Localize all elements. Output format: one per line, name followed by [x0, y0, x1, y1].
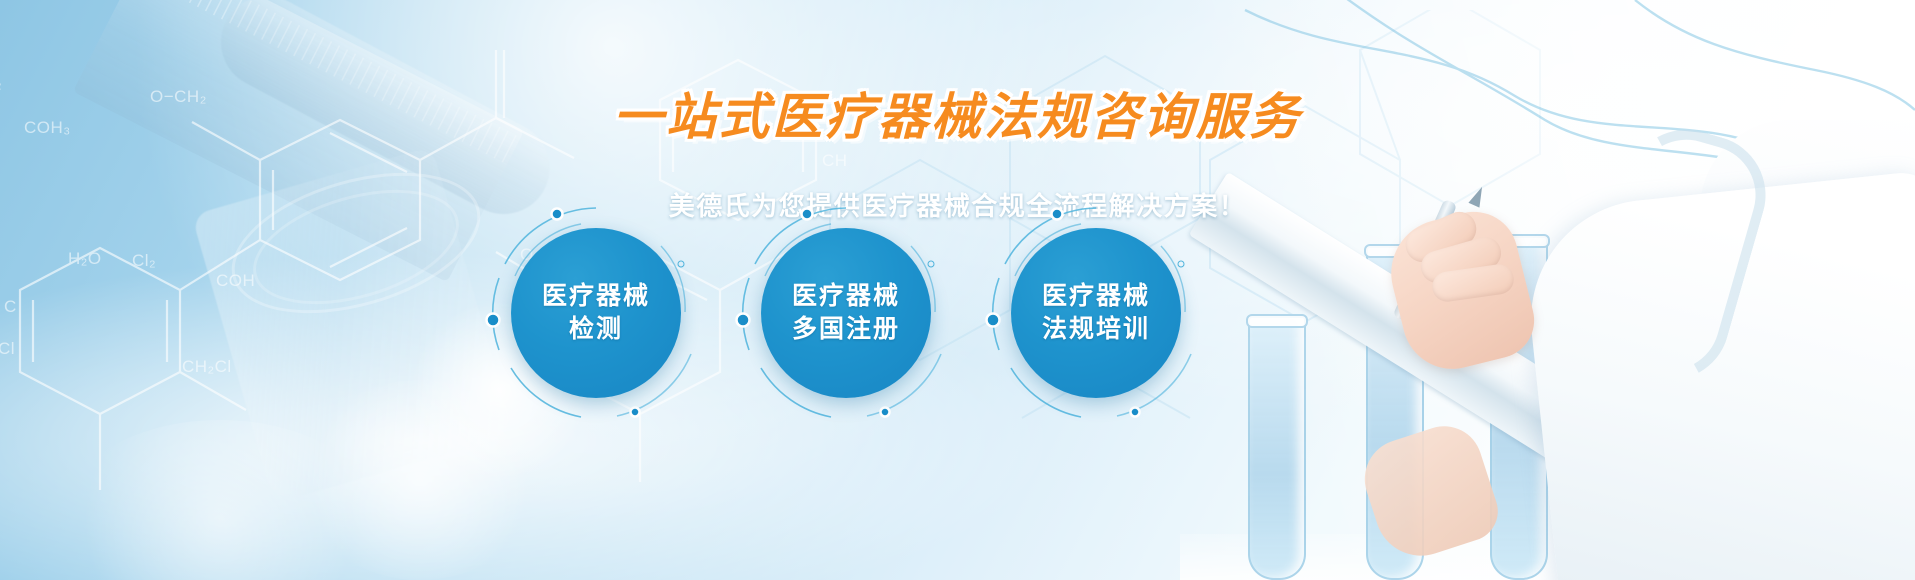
light-bokeh-c	[60, 420, 380, 580]
banner-subheadline: 美德氏为您提供医疗器械合规全流程解决方案！	[0, 186, 1915, 223]
badge-label-line1: 医疗器械	[542, 280, 650, 314]
service-badge-disc: 医疗器械 多国注册	[761, 228, 931, 398]
service-badge-testing[interactable]: 医疗器械 检测	[511, 228, 681, 398]
badge-label-line2: 多国注册	[792, 313, 900, 347]
svg-text:Cl₂: Cl₂	[0, 73, 2, 92]
badge-label-line2: 法规培训	[1042, 313, 1150, 347]
supporting-hand-graphic	[1354, 416, 1505, 567]
service-badge-disc: 医疗器械 法规培训	[1011, 228, 1181, 398]
service-badge-group: 医疗器械 检测 医疗器械 多国注册	[0, 228, 1915, 428]
badge-label-line2: 检测	[569, 313, 623, 347]
service-badge-disc: 医疗器械 检测	[511, 228, 681, 398]
banner-headline: 一站式医疗器械法规咨询服务	[0, 92, 1915, 142]
service-badge-training[interactable]: 医疗器械 法规培训	[1011, 228, 1181, 398]
badge-label-line1: 医疗器械	[792, 280, 900, 314]
promo-banner: Cl₂ COH₃ O−CH₂ H₂O Cl₂ Cl C Cl CH₂Cl COH…	[0, 0, 1915, 580]
svg-text:CH: CH	[822, 151, 848, 170]
service-badge-registration[interactable]: 医疗器械 多国注册	[761, 228, 931, 398]
lab-bench-surface	[1180, 534, 1915, 580]
badge-label-line1: 医疗器械	[1042, 280, 1150, 314]
